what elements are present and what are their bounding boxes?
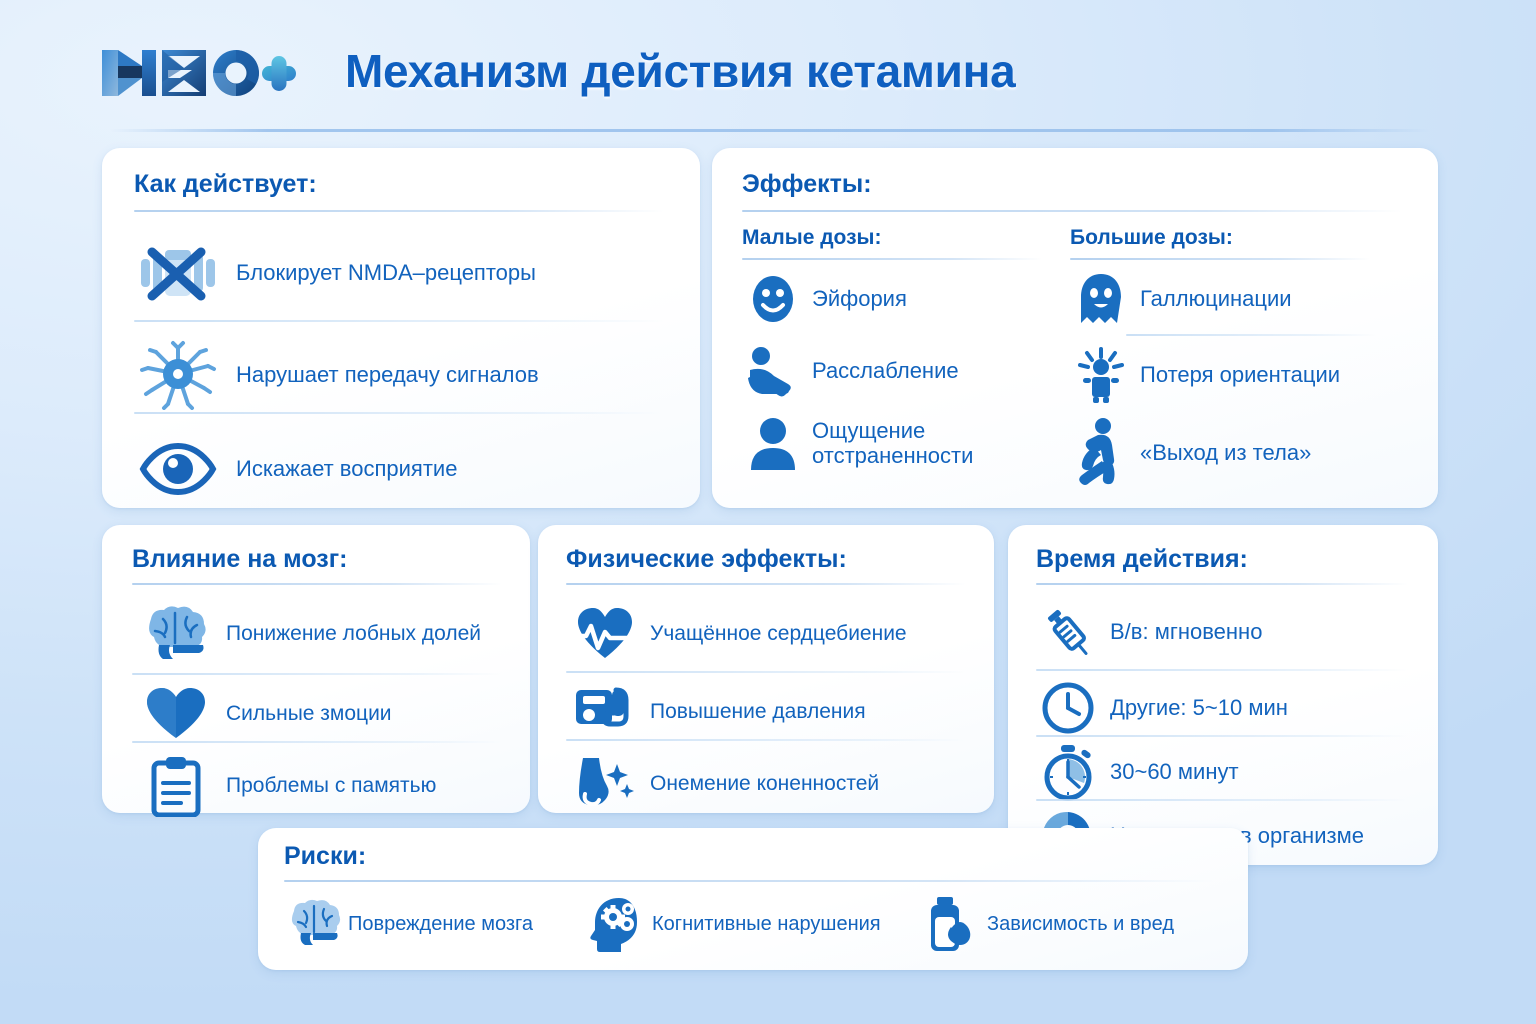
card-title-how-it-works: Как действует: — [134, 170, 317, 199]
card-title-risks: Риски: — [284, 842, 366, 871]
list-divider — [1036, 799, 1408, 801]
list-item: «Выход из тела» — [1070, 414, 1390, 492]
list-item-label: Сильные змоции — [226, 702, 392, 726]
list-item: Нарушает передачу сигналов — [132, 332, 677, 418]
eye-icon — [132, 431, 224, 507]
pill-bottle-icon — [923, 895, 981, 953]
list-item: В/в: мгновенно — [1034, 601, 1424, 663]
list-item: Эйфория — [742, 266, 1062, 332]
list-item: Когнитивные нарушения — [588, 892, 881, 956]
card-title-divider — [134, 210, 664, 212]
ghost-icon — [1070, 268, 1132, 330]
list-item: Повреждение мозга — [284, 892, 533, 956]
list-item-label: Искажает восприятие — [236, 456, 457, 481]
brain-icon — [132, 603, 220, 665]
card-title-brain-impact: Влияние на мозг: — [132, 545, 347, 574]
list-item-label: Зависимость и вред — [987, 913, 1174, 936]
list-divider — [132, 741, 502, 743]
effects-column-high-dose: Большие дозы: Галлюцинации — [1070, 226, 1390, 492]
card-title-effects: Эффекты: — [742, 170, 872, 199]
list-divider — [132, 673, 502, 675]
list-divider — [566, 671, 966, 673]
card-title-divider — [1036, 583, 1408, 585]
list-divider — [1036, 669, 1408, 671]
subheading-high-dose: Большие дозы: — [1070, 226, 1390, 250]
list-item: Зависимость и вред — [923, 892, 1174, 956]
list-item-label: Учащённое сердцебиение — [650, 622, 907, 646]
list-item-label: Повышение давления — [650, 700, 866, 724]
card-title-divider — [284, 880, 1214, 882]
list-item-label: Повреждение мозга — [348, 913, 533, 936]
subheading-low-dose: Малые дозы: — [742, 226, 1062, 250]
reclining-person-icon — [742, 340, 804, 402]
list-item-label: Расслабление — [812, 358, 959, 383]
list-item: Галлюцинации — [1070, 266, 1390, 332]
effects-column-low-dose: Малые дозы: Эйфория — [742, 226, 1062, 476]
head-gears-icon — [588, 895, 646, 953]
card-title-divider — [742, 210, 1402, 212]
nmda-receptor-blocked-icon — [132, 235, 224, 311]
page-title: Механизм действия кетамина — [345, 44, 1015, 98]
brand-logo — [96, 42, 296, 104]
list-item-label: 30~60 минут — [1110, 759, 1239, 784]
list-divider — [1126, 334, 1376, 336]
list-divider — [134, 412, 664, 414]
subheading-divider — [742, 258, 1042, 260]
list-item-label: Нарушает передачу сигналов — [236, 362, 539, 387]
list-item: Искажает восприятие — [132, 426, 677, 512]
card-title-divider — [566, 583, 966, 585]
list-item: 30~60 минут — [1034, 741, 1424, 803]
list-divider — [1036, 735, 1408, 737]
dizzy-person-icon — [1070, 344, 1132, 406]
numb-foot-icon — [566, 753, 644, 815]
list-item-label: Другие: 5~10 мин — [1110, 695, 1288, 720]
person-silhouette-icon — [742, 412, 804, 474]
list-item-label: Когнитивные нарушения — [652, 913, 881, 936]
list-item: Понижение лобных долей — [132, 597, 512, 671]
list-item-label: Онемение коненностей — [650, 772, 879, 796]
subheading-divider — [1070, 258, 1370, 260]
infographic-canvas: Механизм действия кетамина Как действует… — [0, 0, 1536, 1024]
list-item-label: Проблемы с памятью — [226, 774, 436, 798]
card-how-it-works: Как действует: — [102, 148, 700, 508]
list-item: Блокирует NMDA–рецепторы — [132, 230, 677, 316]
floating-person-icon — [1070, 414, 1132, 492]
list-divider — [134, 320, 664, 322]
list-item: Онемение коненностей — [566, 747, 976, 821]
list-item: Расслабление — [742, 338, 1062, 404]
blood-pressure-monitor-icon — [566, 681, 644, 743]
list-item: Повышение давления — [566, 675, 976, 749]
syringe-icon — [1034, 602, 1102, 662]
header-divider — [110, 129, 1430, 132]
list-item: Сильные змоции — [132, 677, 512, 751]
smiley-face-icon — [742, 268, 804, 330]
card-title-duration: Время действия: — [1036, 545, 1248, 574]
card-duration: Время действия: — [1008, 525, 1438, 865]
list-item-label: Ощущение отстраненности — [812, 418, 1062, 469]
list-item-label: Блокирует NMDA–рецепторы — [236, 260, 536, 285]
damaged-brain-icon — [284, 895, 342, 953]
list-item: Другие: 5~10 мин — [1034, 677, 1424, 739]
neuron-icon — [132, 337, 224, 413]
card-title-physical-effects: Физические эффекты: — [566, 545, 847, 574]
clock-icon — [1034, 678, 1102, 738]
list-item-label: В/в: мгновенно — [1110, 619, 1262, 644]
card-effects: Эффекты: Малые дозы: Эйфория — [712, 148, 1438, 508]
list-item-label: «Выход из тела» — [1140, 440, 1311, 465]
stopwatch-icon — [1034, 742, 1102, 802]
card-title-divider — [132, 583, 502, 585]
list-divider — [566, 739, 966, 741]
heart-icon — [132, 683, 220, 745]
card-brain-impact: Влияние на мозг: Понижение лобных долей — [102, 525, 530, 813]
card-physical-effects: Физические эффекты: Учащённое сердцебиен… — [538, 525, 994, 813]
list-item: Ощущение отстраненности — [742, 410, 1062, 476]
clipboard-icon — [132, 755, 220, 817]
list-item: Проблемы с памятью — [132, 749, 512, 823]
list-item: Учащённое сердцебиение — [566, 597, 976, 671]
heartbeat-icon — [566, 603, 644, 665]
card-risks: Риски: Повреждение мозга — [258, 828, 1248, 970]
header: Механизм действия кетамина — [0, 0, 1536, 130]
list-item: Потеря ориентации — [1070, 342, 1390, 408]
list-item-label: Понижение лобных долей — [226, 622, 481, 646]
list-item-label: Потеря ориентации — [1140, 362, 1340, 387]
list-item-label: Галлюцинации — [1140, 286, 1292, 311]
list-item-label: Эйфория — [812, 286, 907, 311]
